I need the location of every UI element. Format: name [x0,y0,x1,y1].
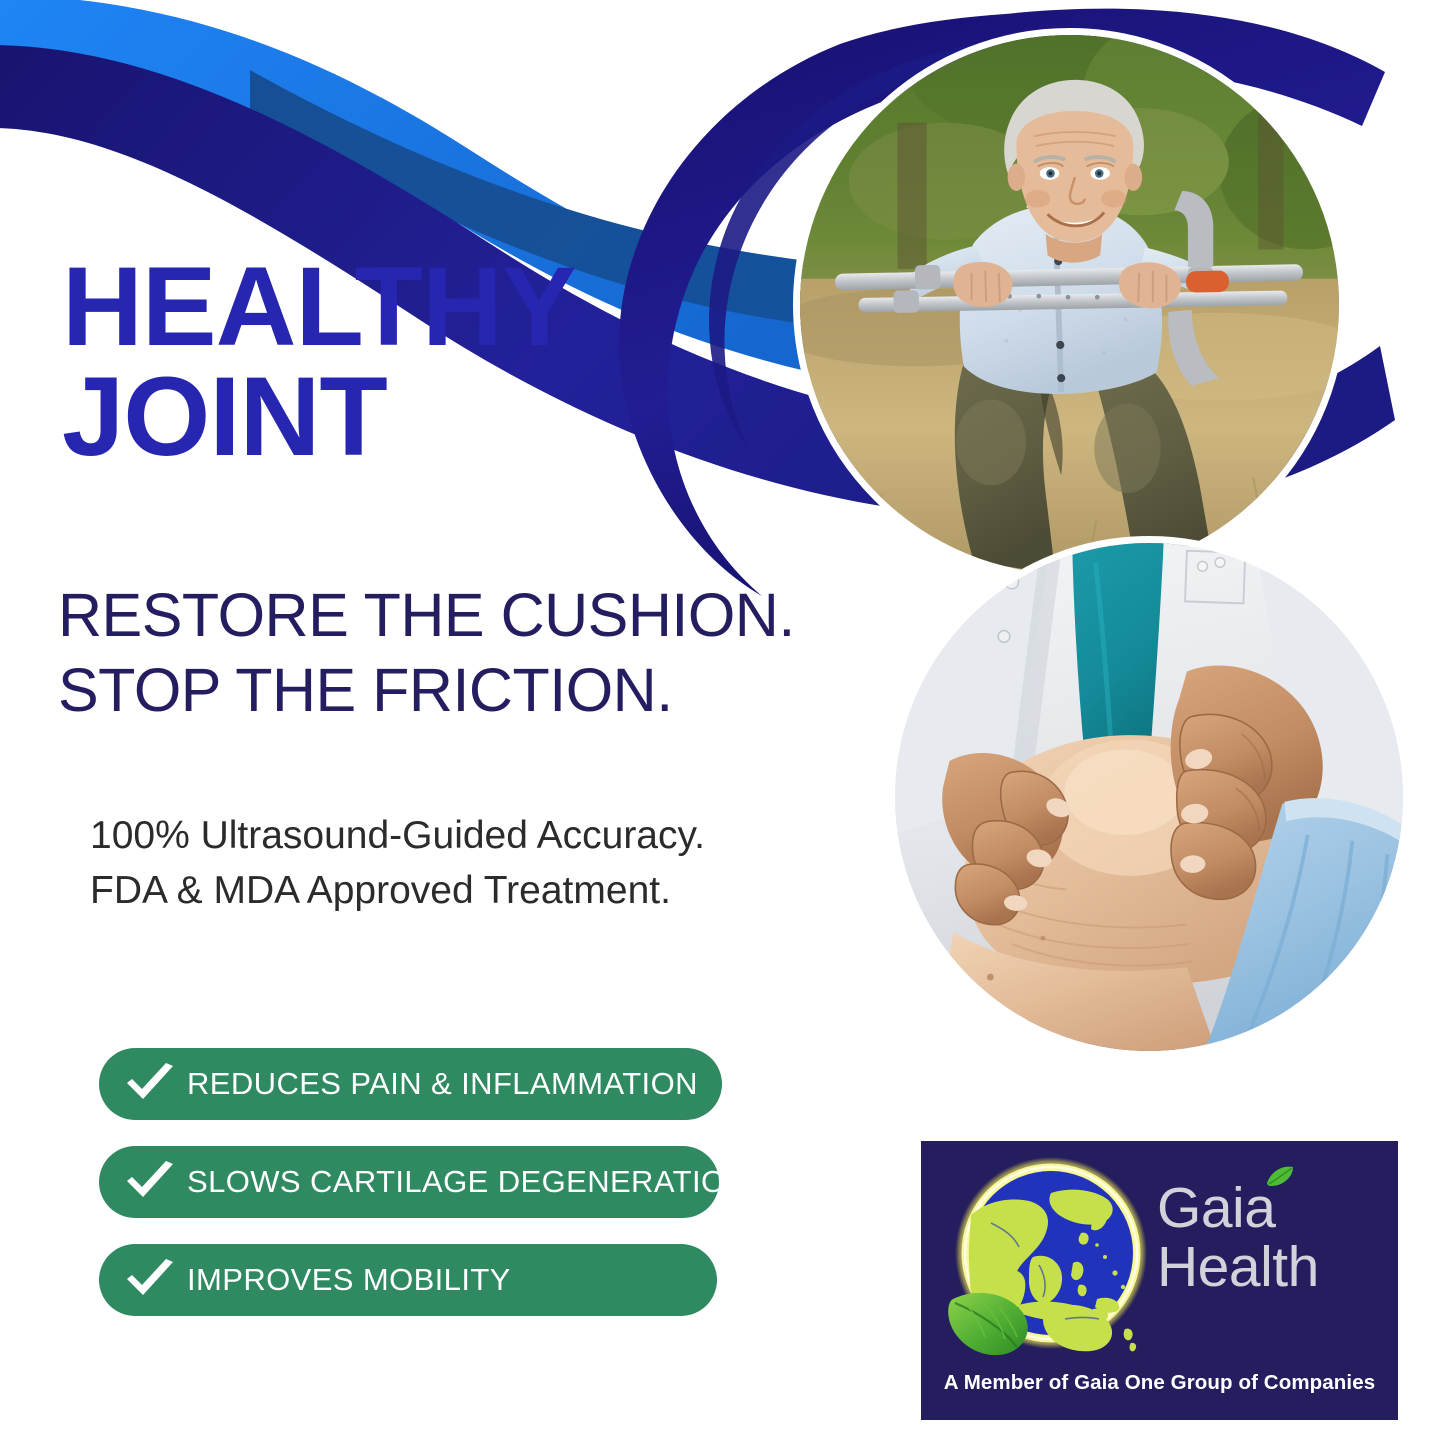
logo-brand-line-1: Gaia [1157,1179,1397,1238]
check-icon [121,1061,179,1107]
senior-man-with-crutches-photo [793,28,1346,581]
gaia-health-logo-panel[interactable]: Gaia Health A Member of Gaia One Group o… [921,1141,1398,1420]
benefit-label: REDUCES PAIN & INFLAMMATION [187,1066,698,1102]
page-title: HEALTHY JOINT [62,252,762,472]
check-icon [121,1257,179,1303]
subheading-line-1: RESTORE THE CUSHION. [58,578,888,653]
benefit-pill-reduces-pain[interactable]: REDUCES PAIN & INFLAMMATION [99,1048,722,1120]
logo-brand-line-2: Health [1157,1238,1397,1297]
benefit-pill-slows-cartilage-degeneration[interactable]: SLOWS CARTILAGE DEGENERATION [99,1146,719,1218]
doctor-examining-knee-photo [888,536,1410,1058]
check-icon [121,1159,179,1205]
benefit-label: IMPROVES MOBILITY [187,1262,511,1298]
photo-art-knee [895,543,1403,1051]
photo-art-man [800,35,1339,574]
logo-tagline: A Member of Gaia One Group of Companies [921,1371,1398,1395]
headline-line-1: HEALTHY [62,244,576,369]
benefits-list: REDUCES PAIN & INFLAMMATION SLOWS CARTIL… [99,1048,722,1342]
benefit-label: SLOWS CARTILAGE DEGENERATION [187,1164,748,1200]
subheading-line-2: STOP THE FRICTION. [58,653,888,728]
body-paragraph: 100% Ultrasound-Guided Accuracy. FDA & M… [90,808,780,919]
benefit-pill-improves-mobility[interactable]: IMPROVES MOBILITY [99,1244,717,1316]
globe-icon [947,1153,1152,1358]
logo-brand-name: Gaia Health [1157,1179,1397,1298]
subheading: RESTORE THE CUSHION. STOP THE FRICTION. [58,578,888,728]
poster-canvas: HEALTHY JOINT RESTORE THE CUSHION. STOP … [0,0,1445,1445]
headline-line-2: JOINT [62,362,762,472]
